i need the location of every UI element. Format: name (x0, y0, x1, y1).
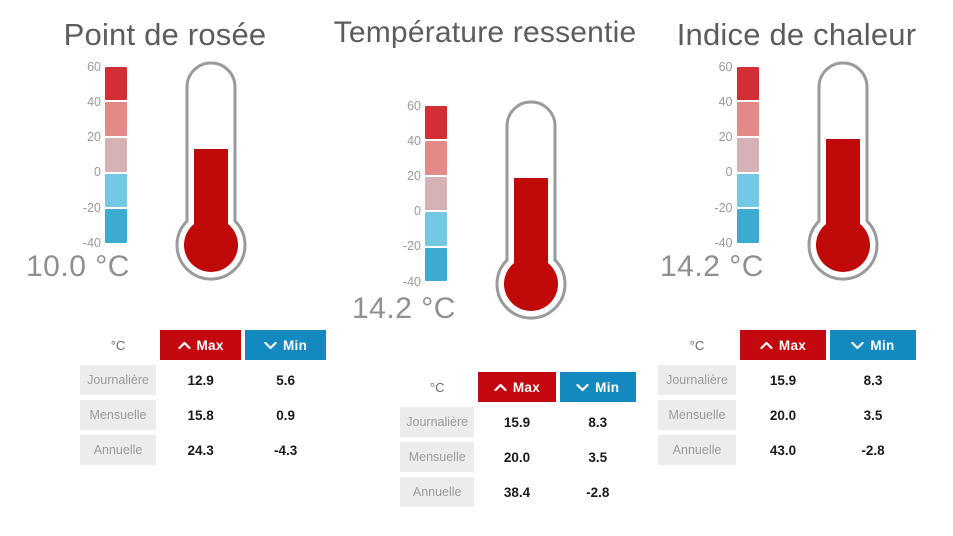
header-max[interactable]: Max (160, 330, 241, 360)
cell-max-annuelle: 38.4 (478, 477, 555, 507)
table-row: Mensuelle 20.0 3.5 (658, 400, 916, 430)
header-min[interactable]: Min (245, 330, 326, 360)
cell-max-mensuelle: 20.0 (740, 400, 826, 430)
header-max[interactable]: Max (478, 372, 555, 402)
color-scale-legend-heat-index (737, 67, 759, 243)
legend-band-warm (105, 102, 127, 136)
cell-max-journaliere: 15.9 (740, 365, 826, 395)
axis-tick-0: 0 (94, 165, 101, 179)
thermometer-dashboard: Point de rosée 60 40 20 0 -20 -40 (0, 0, 953, 536)
row-label-journaliere: Journalière (80, 365, 156, 395)
header-min-label: Min (870, 338, 894, 353)
panel-title-dew-point: Point de rosée (0, 0, 330, 55)
header-min-label: Min (283, 338, 307, 353)
axis-tick-0: 0 (726, 165, 733, 179)
row-label-journaliere: Journalière (658, 365, 736, 395)
legend-band-hot (737, 67, 759, 101)
header-unit: °C (80, 330, 156, 360)
table-row: Mensuelle 20.0 3.5 (400, 442, 636, 472)
table-row: Journalière 15.9 8.3 (658, 365, 916, 395)
axis-tick-60: 60 (407, 99, 421, 113)
axis-tick-m40: -40 (403, 275, 421, 289)
cell-max-journaliere: 12.9 (160, 365, 241, 395)
temperature-axis-heat-index: 60 40 20 0 -20 -40 (697, 67, 733, 243)
chevron-up-icon (178, 341, 191, 350)
axis-tick-40: 40 (719, 95, 733, 109)
cell-min-annuelle: -2.8 (830, 435, 916, 465)
header-min[interactable]: Min (830, 330, 916, 360)
axis-tick-m20: -20 (714, 201, 732, 215)
legend-band-cool (737, 174, 759, 208)
panel-point-de-rosee: Point de rosée 60 40 20 0 -20 -40 (0, 0, 330, 536)
thermometer-tube-dew-point (157, 61, 265, 301)
color-scale-legend-dew-point (105, 67, 127, 243)
legend-band-mild (425, 177, 447, 211)
legend-band-cold (425, 248, 447, 282)
cell-max-journaliere: 15.9 (478, 407, 555, 437)
table-row: Annuelle 43.0 -2.8 (658, 435, 916, 465)
cell-min-mensuelle: 3.5 (560, 442, 636, 472)
thermometer-tube-heat-index (789, 61, 897, 301)
row-label-annuelle: Annuelle (658, 435, 736, 465)
cell-min-mensuelle: 3.5 (830, 400, 916, 430)
thermometer-tube-feels-like (477, 100, 585, 340)
axis-tick-20: 20 (719, 130, 733, 144)
axis-tick-40: 40 (407, 134, 421, 148)
cell-min-journaliere: 5.6 (245, 365, 326, 395)
table-row: Annuelle 38.4 -2.8 (400, 477, 636, 507)
header-unit: °C (400, 372, 474, 402)
row-label-journaliere: Journalière (400, 407, 474, 437)
legend-band-hot (105, 67, 127, 101)
current-value-dew-point: 10.0 °C (26, 250, 130, 284)
stats-table-dew-point: °C Max (76, 325, 330, 470)
legend-band-mild (737, 138, 759, 172)
chevron-up-icon (494, 383, 507, 392)
temperature-axis-feels-like: 60 40 20 0 -20 -40 (385, 106, 421, 282)
table-header-row: °C Max (80, 330, 326, 360)
cell-min-annuelle: -2.8 (560, 477, 636, 507)
stats-table-feels-like: °C Max (396, 367, 640, 512)
legend-band-hot (425, 106, 447, 140)
panel-title-feels-like: Température ressentie (330, 0, 640, 52)
header-min-label: Min (595, 380, 619, 395)
panel-title-heat-index: Indice de chaleur (640, 0, 953, 55)
table-header-row: °C Max (400, 372, 636, 402)
current-value-feels-like: 14.2 °C (352, 292, 456, 326)
chevron-down-icon (851, 341, 864, 350)
chevron-up-icon (760, 341, 773, 350)
header-max[interactable]: Max (740, 330, 826, 360)
table-header-row: °C Max (658, 330, 916, 360)
axis-tick-40: 40 (87, 95, 101, 109)
cell-min-mensuelle: 0.9 (245, 400, 326, 430)
axis-tick-20: 20 (87, 130, 101, 144)
axis-tick-m40: -40 (714, 236, 732, 250)
temperature-axis-dew-point: 60 40 20 0 -20 -40 (65, 67, 101, 243)
legend-band-warm (737, 102, 759, 136)
legend-band-cold (737, 209, 759, 243)
header-unit: °C (658, 330, 736, 360)
cell-max-annuelle: 43.0 (740, 435, 826, 465)
color-scale-legend-feels-like (425, 106, 447, 282)
legend-band-cold (105, 209, 127, 243)
header-max-label: Max (513, 380, 540, 395)
table-row: Journalière 12.9 5.6 (80, 365, 326, 395)
cell-max-mensuelle: 20.0 (478, 442, 555, 472)
row-label-annuelle: Annuelle (400, 477, 474, 507)
table-row: Mensuelle 15.8 0.9 (80, 400, 326, 430)
header-min[interactable]: Min (560, 372, 636, 402)
axis-tick-60: 60 (87, 60, 101, 74)
chevron-down-icon (576, 383, 589, 392)
row-label-mensuelle: Mensuelle (658, 400, 736, 430)
axis-tick-m20: -20 (83, 201, 101, 215)
axis-tick-0: 0 (414, 204, 421, 218)
header-max-label: Max (779, 338, 806, 353)
legend-band-warm (425, 141, 447, 175)
legend-band-cool (105, 174, 127, 208)
row-label-annuelle: Annuelle (80, 435, 156, 465)
current-value-heat-index: 14.2 °C (660, 250, 764, 284)
stats-table-heat-index: °C Max (654, 325, 920, 470)
cell-max-annuelle: 24.3 (160, 435, 241, 465)
cell-min-annuelle: -4.3 (245, 435, 326, 465)
axis-tick-60: 60 (719, 60, 733, 74)
cell-min-journaliere: 8.3 (830, 365, 916, 395)
cell-max-mensuelle: 15.8 (160, 400, 241, 430)
row-label-mensuelle: Mensuelle (80, 400, 156, 430)
axis-tick-m20: -20 (403, 239, 421, 253)
table-row: Journalière 15.9 8.3 (400, 407, 636, 437)
axis-tick-m40: -40 (83, 236, 101, 250)
legend-band-mild (105, 138, 127, 172)
header-max-label: Max (197, 338, 224, 353)
chevron-down-icon (264, 341, 277, 350)
panel-temperature-ressentie: Température ressentie 60 40 20 0 -20 -40 (330, 0, 640, 536)
table-row: Annuelle 24.3 -4.3 (80, 435, 326, 465)
legend-band-cool (425, 212, 447, 246)
panel-indice-de-chaleur: Indice de chaleur 60 40 20 0 -20 -40 (640, 0, 953, 536)
cell-min-journaliere: 8.3 (560, 407, 636, 437)
axis-tick-20: 20 (407, 169, 421, 183)
row-label-mensuelle: Mensuelle (400, 442, 474, 472)
